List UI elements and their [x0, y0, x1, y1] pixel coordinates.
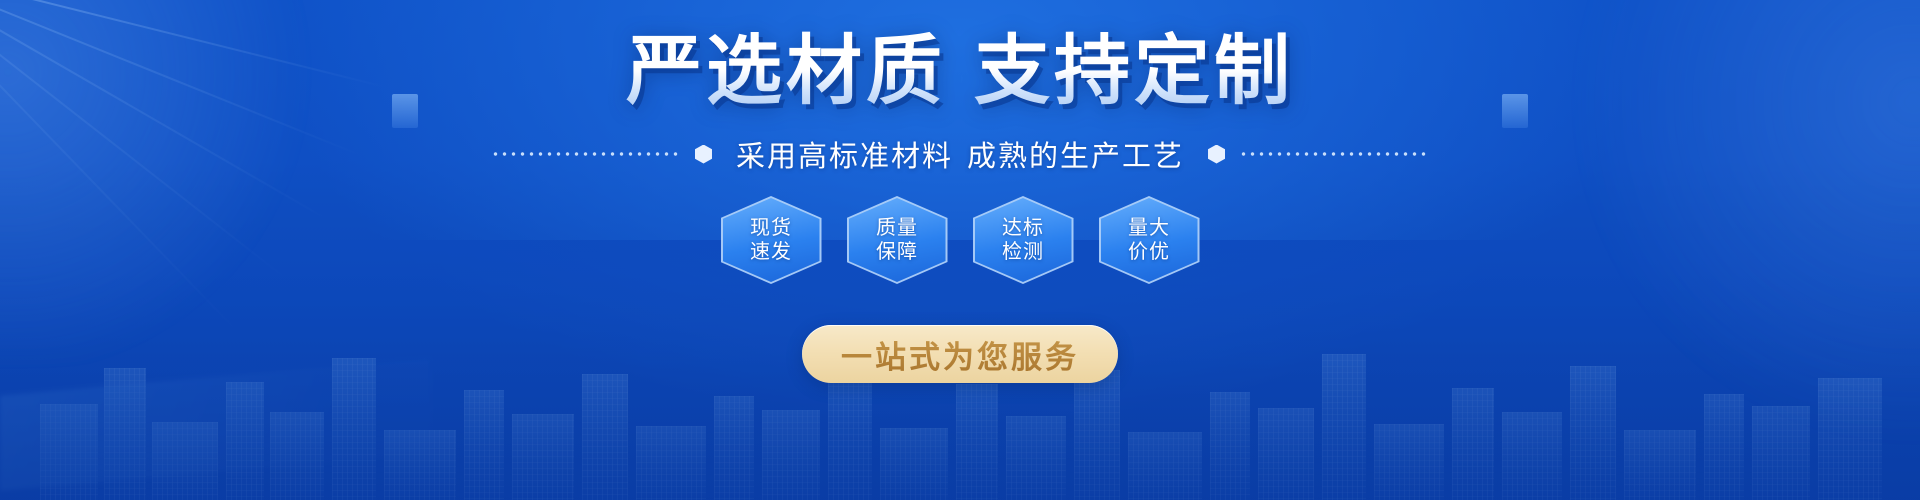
headline-part-1: 严选材质: [626, 29, 946, 114]
feature-2-line-2: 保障: [876, 240, 918, 264]
feature-2-line-1: 质量: [876, 216, 918, 240]
hexagon-bullet-left-icon: [695, 145, 712, 164]
feature-3-line-2: 检测: [1002, 240, 1044, 264]
feature-1-line-1: 现货: [750, 216, 792, 240]
feature-hexagon-2-label: 质量 保障: [876, 216, 918, 265]
one-stop-service-button[interactable]: 一站式为您服务: [802, 325, 1118, 383]
subtitle-text: 采用高标准材料成熟的生产工艺: [726, 133, 1194, 175]
subtitle-row: 采用高标准材料成熟的生产工艺: [0, 133, 1920, 175]
dotted-line-left: [491, 152, 681, 156]
feature-hexagon-3[interactable]: 达标 检测: [973, 196, 1074, 284]
feature-hexagon-4[interactable]: 量大 价优: [1099, 196, 1200, 284]
dotted-line-right: [1239, 152, 1429, 156]
subtitle-part-2: 成熟的生产工艺: [967, 141, 1184, 173]
hexagon-bullet-right-icon: [1208, 145, 1225, 164]
page-title: 严选材质支持定制: [0, 28, 1920, 116]
feature-1-line-2: 速发: [750, 240, 792, 264]
cta-row: 一站式为您服务: [0, 325, 1920, 383]
feature-hexagon-2[interactable]: 质量 保障: [847, 196, 948, 284]
feature-hexagon-3-label: 达标 检测: [1002, 216, 1044, 265]
subtitle-part-1: 采用高标准材料: [736, 141, 953, 173]
feature-4-line-2: 价优: [1128, 240, 1170, 264]
headline-part-2: 支持定制: [974, 29, 1294, 114]
promo-banner: 严选材质支持定制 采用高标准材料成熟的生产工艺 现货 速发: [0, 0, 1920, 500]
feature-hexagon-1-label: 现货 速发: [750, 216, 792, 265]
feature-hexagon-4-label: 量大 价优: [1128, 216, 1170, 265]
feature-hexagon-list: 现货 速发 质量 保障 达标 检测: [0, 196, 1920, 284]
feature-hexagon-1[interactable]: 现货 速发: [721, 196, 822, 284]
cta-label: 一站式为您服务: [841, 332, 1079, 377]
feature-3-line-1: 达标: [1002, 216, 1044, 240]
feature-4-line-1: 量大: [1128, 216, 1170, 240]
